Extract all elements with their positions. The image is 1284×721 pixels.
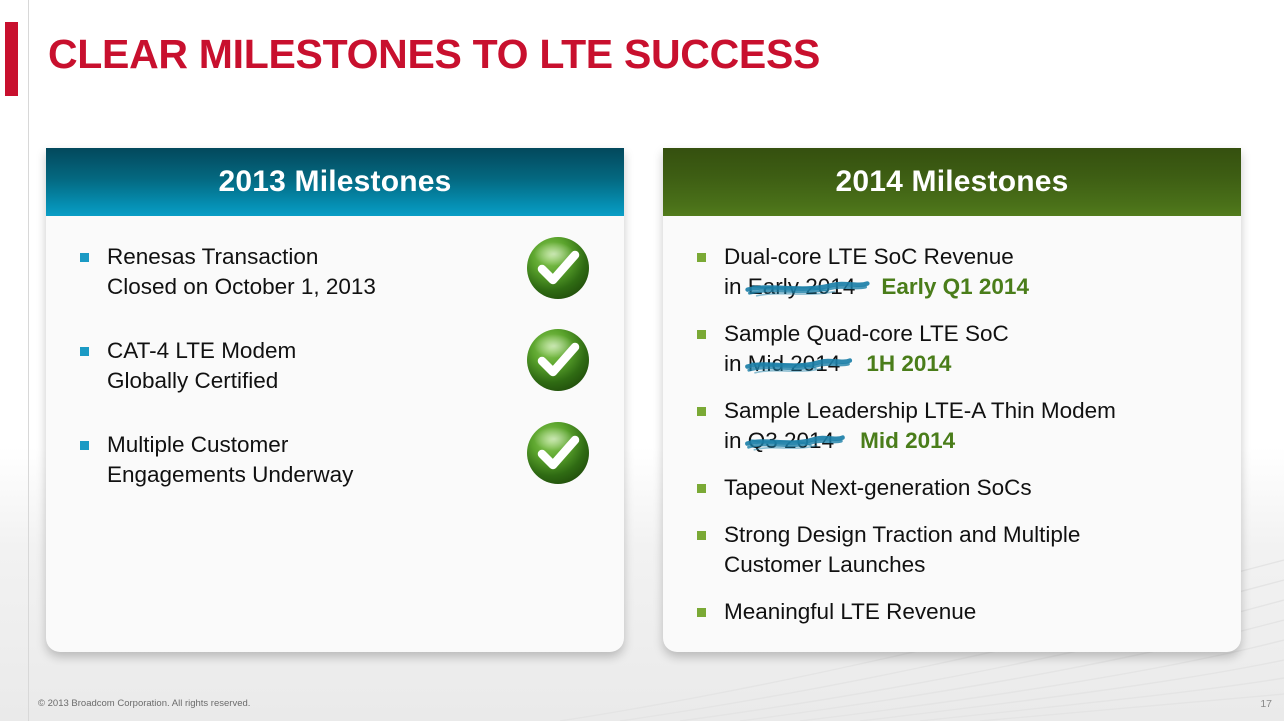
struck-original-date: Early 2014 bbox=[748, 272, 856, 302]
title-accent-bar bbox=[5, 22, 18, 96]
bullet-line-1: Meaningful LTE Revenue bbox=[724, 597, 1223, 627]
struck-original-date: Mid 2014 bbox=[748, 349, 841, 379]
date-prefix: in bbox=[724, 274, 748, 299]
list-item: Tapeout Next-generation SoCs bbox=[689, 473, 1223, 503]
list-item: Strong Design Traction and Multiple Cust… bbox=[689, 520, 1223, 580]
date-prefix: in bbox=[724, 428, 748, 453]
page-number: 17 bbox=[1260, 698, 1272, 710]
panel-2013-milestones: 2013 Milestones Renesas Transaction Clos… bbox=[46, 148, 624, 652]
milestone-list-2014: Dual-core LTE SoC Revenue in Early 2014 bbox=[689, 242, 1223, 627]
bullet-line-2: in Mid 2014 1H 2014 bbox=[724, 349, 1223, 379]
list-item: Sample Quad-core LTE SoC in Mid 2014 bbox=[689, 319, 1223, 379]
presentation-slide: CLEAR MILESTONES TO LTE SUCCESS 2013 Mil… bbox=[0, 0, 1284, 721]
date-prefix: in bbox=[724, 351, 748, 376]
replacement-date: Mid 2014 bbox=[860, 428, 955, 453]
bullet-line-1: Sample Leadership LTE-A Thin Modem bbox=[724, 396, 1223, 426]
panel-body-2013: Renesas Transaction Closed on October 1,… bbox=[46, 216, 624, 652]
panel-header-2014: 2014 Milestones bbox=[663, 148, 1241, 216]
panel-body-2014: Dual-core LTE SoC Revenue in Early 2014 bbox=[663, 216, 1241, 652]
replacement-date: Early Q1 2014 bbox=[881, 274, 1029, 299]
bullet-line-1: Sample Quad-core LTE SoC bbox=[724, 319, 1223, 349]
bullet-line-1: Tapeout Next-generation SoCs bbox=[724, 473, 1223, 503]
bullet-line-2: in Q3 2014 Mid 2014 bbox=[724, 426, 1223, 456]
list-item: Sample Leadership LTE-A Thin Modem in Q3… bbox=[689, 396, 1223, 456]
list-item: Dual-core LTE SoC Revenue in Early 2014 bbox=[689, 242, 1223, 302]
panel-2014-milestones: 2014 Milestones Dual-core LTE SoC Revenu… bbox=[663, 148, 1241, 652]
struck-text: Q3 2014 bbox=[748, 428, 834, 453]
page-title: CLEAR MILESTONES TO LTE SUCCESS bbox=[48, 31, 820, 78]
green-check-badge-icon bbox=[524, 326, 592, 394]
bullet-line-1: Dual-core LTE SoC Revenue bbox=[724, 242, 1223, 272]
green-check-badge-icon bbox=[524, 419, 592, 487]
list-item: Meaningful LTE Revenue bbox=[689, 597, 1223, 627]
struck-text: Early 2014 bbox=[748, 274, 856, 299]
bullet-line-1: Strong Design Traction and Multiple bbox=[724, 520, 1223, 550]
replacement-date: 1H 2014 bbox=[866, 351, 951, 376]
copyright-notice: © 2013 Broadcom Corporation. All rights … bbox=[38, 698, 250, 709]
green-check-badge-icon bbox=[524, 234, 592, 302]
panel-header-2013: 2013 Milestones bbox=[46, 148, 624, 216]
bullet-line-2: Customer Launches bbox=[724, 550, 1223, 580]
left-edge-rule bbox=[28, 0, 29, 721]
bullet-line-2: in Early 2014 Early Q1 2014 bbox=[724, 272, 1223, 302]
struck-original-date: Q3 2014 bbox=[748, 426, 834, 456]
struck-text: Mid 2014 bbox=[748, 351, 841, 376]
